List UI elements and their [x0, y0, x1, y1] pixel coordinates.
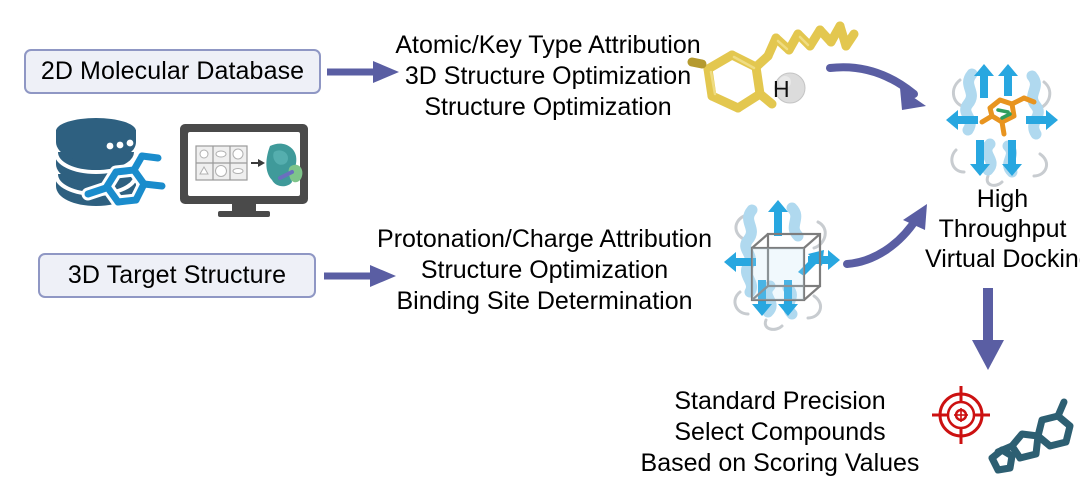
molecular-database-icon — [52, 118, 168, 222]
ligand-prep-line-2: 3D Structure Optimization — [388, 61, 708, 92]
results-line-3: Based on Scoring Values — [620, 448, 940, 479]
ligand-prep-line-3: Structure Optimization — [388, 92, 708, 123]
results-stage-label: Standard Precision Select Compounds Base… — [620, 386, 940, 479]
hydrogen-atom-label: H — [773, 76, 790, 102]
scoring-target-icon — [930, 384, 992, 446]
node-2d-molecular-database-label: 2D Molecular Database — [41, 57, 304, 86]
node-2d-molecular-database[interactable]: 2D Molecular Database — [24, 49, 321, 94]
protein-prep-line-3: Binding Site Determination — [372, 286, 717, 317]
protein-prep-line-2: Structure Optimization — [372, 255, 717, 286]
protein-ligand-complex-graphic — [944, 58, 1064, 190]
results-line-1: Standard Precision — [620, 386, 940, 417]
workflow-diagram: 2D Molecular Database Atomic/Key Type At… — [0, 0, 1080, 492]
node-3d-target-structure-label: 3D Target Structure — [68, 261, 286, 290]
ligand-preparation-steps: Atomic/Key Type Attribution 3D Structure… — [388, 30, 708, 123]
virtual-screening-monitor-icon — [178, 122, 310, 218]
arrow-ligand-to-docking — [826, 58, 946, 118]
arrow-docking-to-results — [966, 286, 1010, 374]
arrow-protein-to-docking — [845, 198, 955, 273]
protein-prep-line-1: Protonation/Charge Attribution — [372, 224, 717, 255]
node-3d-target-structure[interactable]: 3D Target Structure — [38, 253, 316, 298]
protein-preparation-steps: Protonation/Charge Attribution Structure… — [372, 224, 717, 317]
protein-with-binding-site-box-graphic — [722, 196, 842, 332]
ligand-prep-line-1: Atomic/Key Type Attribution — [388, 30, 708, 61]
results-line-2: Select Compounds — [620, 417, 940, 448]
selected-hit-compound-graphic — [988, 398, 1080, 482]
